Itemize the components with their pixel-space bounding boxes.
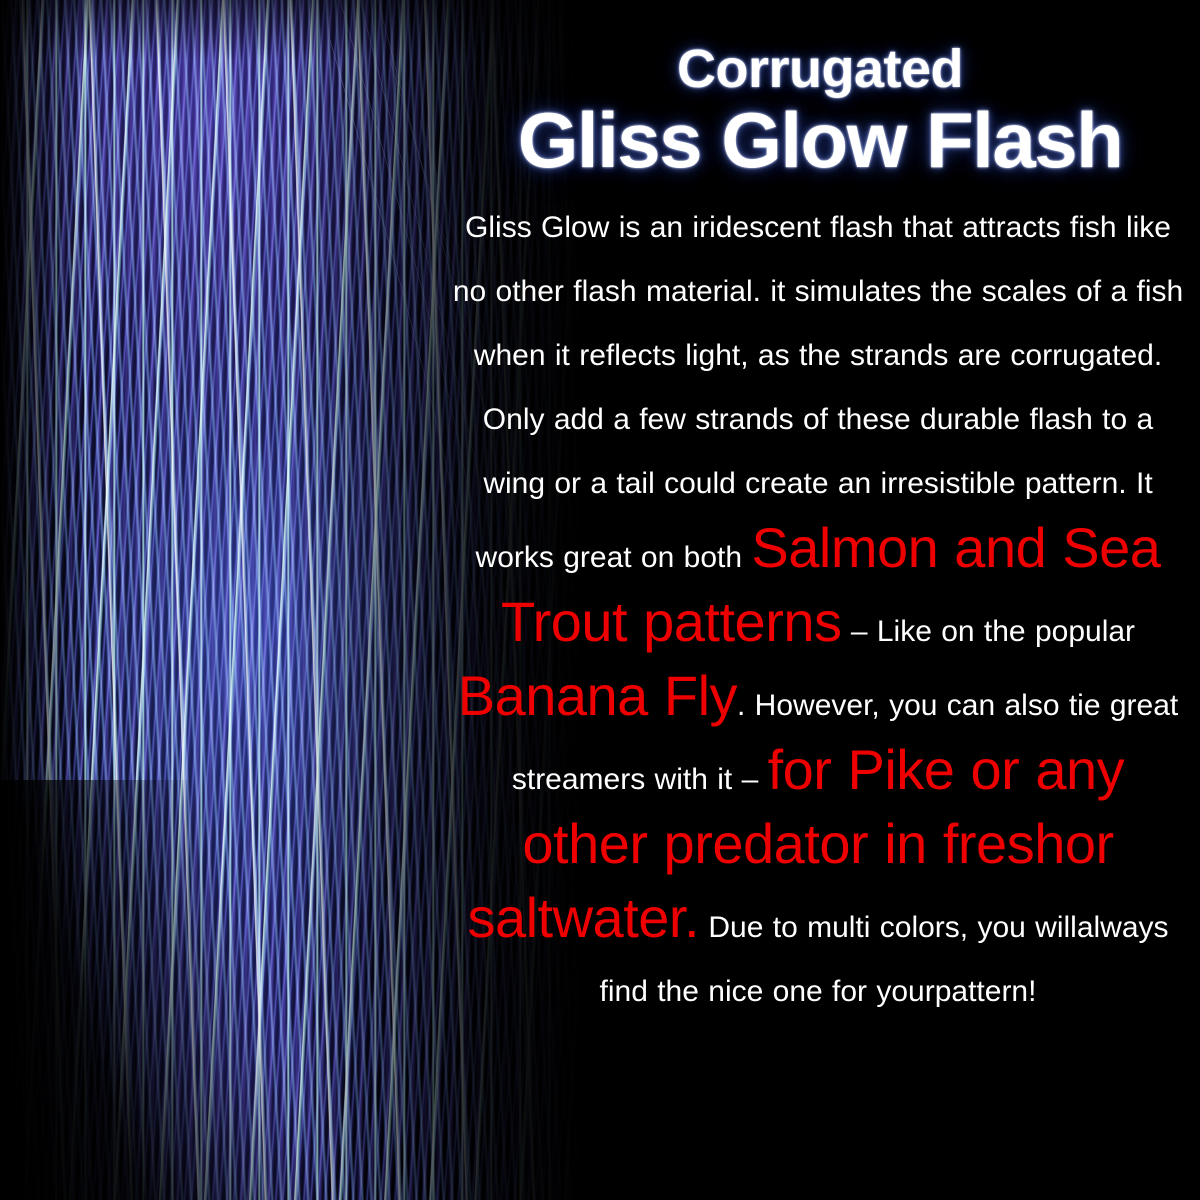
product-description: Gliss Glow is an iridescent flash that a… xyxy=(440,182,1200,1024)
product-title-eyebrow: Corrugated xyxy=(440,0,1200,96)
product-poster: Corrugated Gliss Glow Flash Gliss Glow i… xyxy=(0,0,1200,1200)
description-text-2: – Like on the popular xyxy=(841,615,1135,648)
text-column: Corrugated Gliss Glow Flash Gliss Glow i… xyxy=(440,0,1200,1200)
description-highlight-3: Banana Fly xyxy=(458,664,737,727)
product-title: Gliss Glow Flash xyxy=(440,96,1200,182)
